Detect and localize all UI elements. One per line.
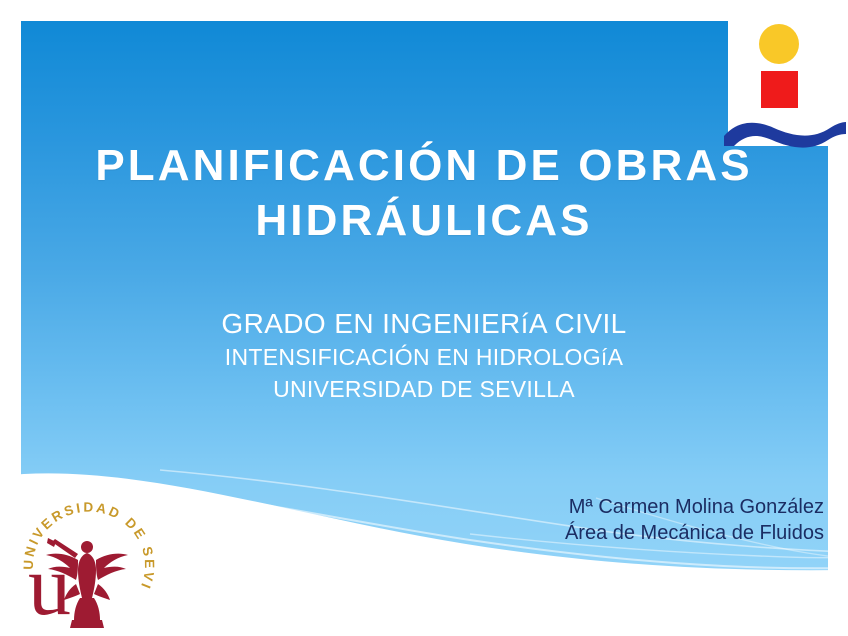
university-seal-logo: UNIVERSIDAD DE SEVILLA u — [12, 492, 172, 636]
author-department: Área de Mecánica de Fluidos — [565, 520, 824, 546]
red-square-icon — [761, 71, 798, 108]
corporate-logo — [728, 0, 848, 150]
yellow-circle-icon — [759, 24, 799, 64]
subtitle-line-university: UNIVERSIDAD DE SEVILLA — [40, 373, 808, 405]
slide-title: PLANIFICACIÓN DE OBRAS HIDRÁULICAS — [40, 138, 808, 248]
seal-letter-u: u — [28, 537, 71, 633]
author-name: Mª Carmen Molina González — [565, 494, 824, 520]
subtitle-line-degree: GRADO EN INGENIERíA CIVIL — [40, 305, 808, 342]
presentation-slide: PLANIFICACIÓN DE OBRAS HIDRÁULICAS GRADO… — [0, 0, 848, 636]
subtitle-line-specialty: INTENSIFICACIÓN EN HIDROLOGíA — [40, 342, 808, 373]
slide-subtitle: GRADO EN INGENIERíA CIVIL INTENSIFICACIÓ… — [40, 305, 808, 405]
author-credit: Mª Carmen Molina González Área de Mecáni… — [565, 494, 824, 546]
